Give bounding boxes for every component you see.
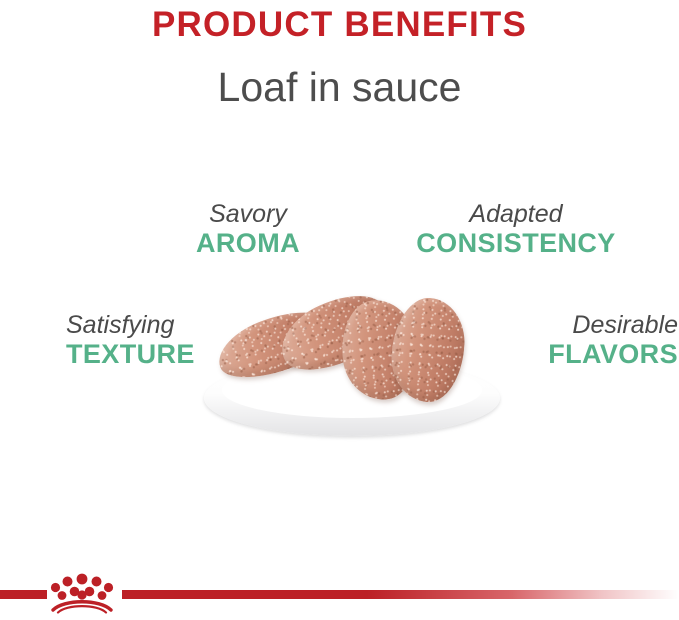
page-title: PRODUCT BENEFITS — [0, 6, 679, 45]
benefit-texture: Satisfying TEXTURE — [66, 311, 195, 369]
product-benefits-panel: PRODUCT BENEFITS Loaf in sauce Savory AR… — [0, 0, 679, 620]
benefit-term: AROMA — [178, 228, 318, 258]
benefit-qualifier: Desirable — [548, 311, 678, 339]
royal-canin-crown-logo — [46, 570, 118, 614]
benefit-qualifier: Savory — [178, 200, 318, 228]
brand-bar-left — [0, 590, 47, 599]
benefit-term: CONSISTENCY — [408, 228, 624, 258]
page-subtitle: Loaf in sauce — [0, 64, 679, 111]
benefit-consistency: Adapted CONSISTENCY — [408, 200, 624, 258]
benefit-term: TEXTURE — [66, 339, 195, 369]
benefit-flavors: Desirable FLAVORS — [548, 311, 678, 369]
product-food-image — [196, 282, 508, 452]
crown-icon — [46, 570, 118, 614]
benefit-qualifier: Satisfying — [66, 311, 195, 339]
benefit-term: FLAVORS — [548, 339, 678, 369]
brand-bar-right — [122, 590, 679, 599]
benefit-aroma: Savory AROMA — [178, 200, 318, 258]
benefit-qualifier: Adapted — [408, 200, 624, 228]
